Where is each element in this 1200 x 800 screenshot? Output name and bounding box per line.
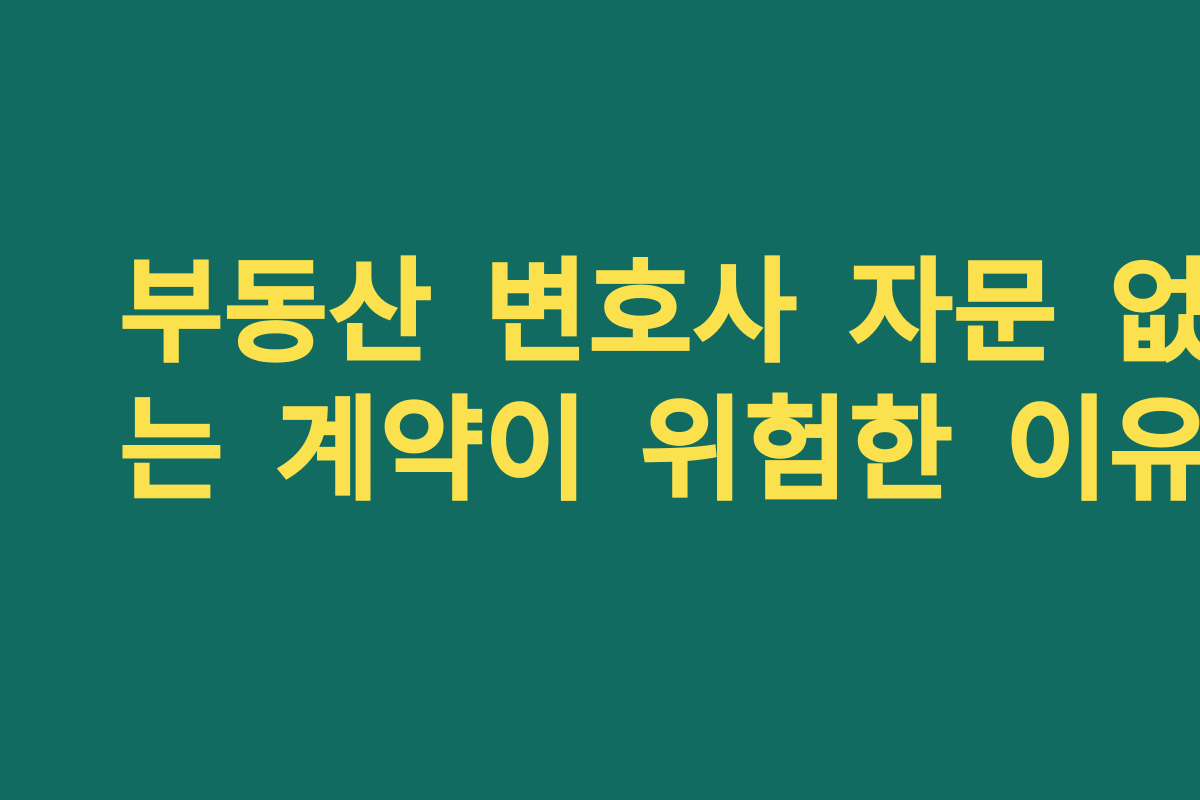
headline-line-1: 부동산 변호사 자문 없 <box>120 247 1080 379</box>
headline-line-2: 는 계약이 위험한 이유 <box>120 385 1080 517</box>
headline-text: 부동산 변호사 자문 없 는 계약이 위험한 이유 <box>120 247 1080 517</box>
poster-canvas: 부동산 변호사 자문 없 는 계약이 위험한 이유 <box>0 0 1200 800</box>
